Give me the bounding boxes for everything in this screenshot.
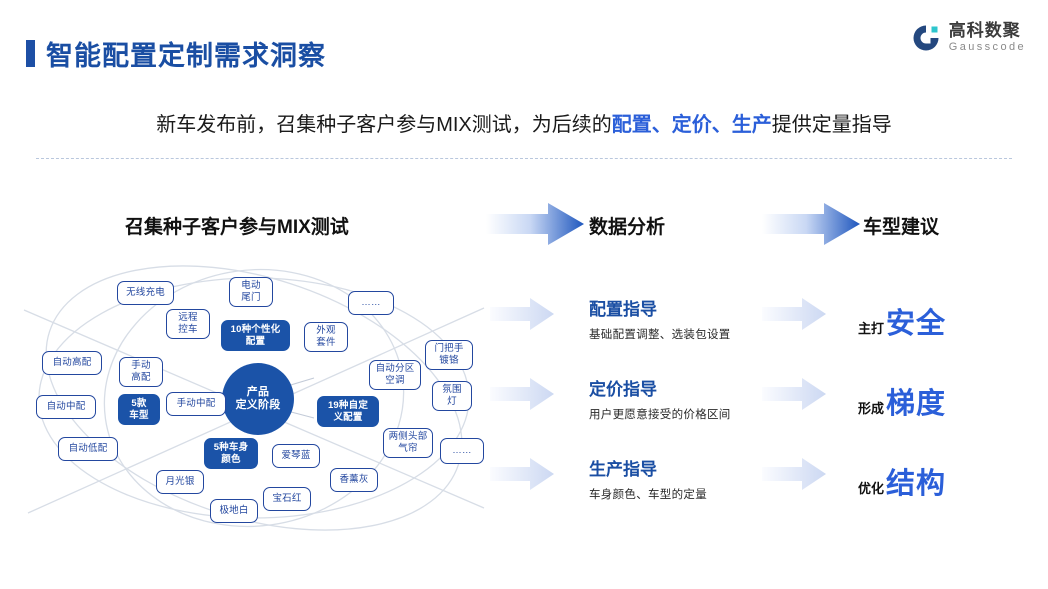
mindmap-node-n20: 爱琴蓝 bbox=[272, 444, 320, 468]
mindmap-node-n09: 门把手镀铬 bbox=[425, 340, 473, 370]
suggestion-row-2: 形成 梯度 bbox=[858, 380, 946, 422]
mindmap-node-n19: …… bbox=[440, 438, 484, 464]
analysis-row-1-subtitle: 基础配置调整、选装包设置 bbox=[589, 326, 819, 342]
mindmap-node-label: 无线充电 bbox=[126, 287, 165, 299]
mindmap-node-label: …… bbox=[361, 297, 380, 309]
page-title: 智能配置定制需求洞察 bbox=[46, 34, 326, 73]
mindmap-node-label: 两侧头部 bbox=[389, 431, 428, 443]
mindmap-node-label: 手动中配 bbox=[177, 398, 216, 410]
mindmap-node-label: 车型 bbox=[129, 410, 148, 422]
suggestion-row-1-keyword: 安全 bbox=[886, 300, 946, 342]
suggestion-row-1-prefix: 主打 bbox=[858, 318, 884, 337]
mindmap-node-label: 配置 bbox=[246, 336, 265, 348]
subtitle-part1: 新车发布前，召集种子客户参与MIX测试，为后续的 bbox=[156, 114, 612, 136]
analysis-row-3: 生产指导 车身颜色、车型的定量 bbox=[589, 460, 819, 502]
mindmap-node-n02: 电动尾门 bbox=[229, 277, 273, 307]
mindmap-node-n17: 5种车身颜色 bbox=[204, 438, 258, 469]
mindmap-center-node: 产品 定义阶段 bbox=[222, 363, 294, 435]
mindmap-node-label: 高配 bbox=[131, 372, 150, 384]
mindmap-node-n16: 自动低配 bbox=[58, 437, 118, 461]
suggestion-row-2-keyword: 梯度 bbox=[886, 380, 946, 422]
mindmap-node-label: 5种车身 bbox=[214, 442, 249, 454]
analysis-row-1: 配置指导 基础配置调整、选装包设置 bbox=[589, 300, 819, 342]
mindmap-node-label: …… bbox=[452, 445, 471, 457]
mindmap-node-n15: 19种自定义配置 bbox=[317, 396, 379, 427]
mindmap-node-label: 自动高配 bbox=[53, 357, 92, 369]
mindmap-node-label: 镀铬 bbox=[439, 355, 458, 367]
mindmap-node-n03: …… bbox=[348, 291, 394, 315]
mindmap-node-label: 外观 bbox=[316, 325, 335, 337]
mindmap-node-label: 灯 bbox=[447, 396, 457, 408]
mindmap-node-n14: 手动中配 bbox=[166, 392, 226, 416]
mindmap-node-label: 尾门 bbox=[241, 292, 260, 304]
slide-header: 智能配置定制需求洞察 bbox=[0, 18, 1048, 64]
title-accent-bar bbox=[26, 40, 35, 67]
mindmap-node-label: 远程 bbox=[178, 312, 197, 324]
row-arrow-3-icon bbox=[490, 458, 554, 490]
mindmap-node-n23: 宝石红 bbox=[263, 487, 311, 511]
mindmap-node-label: 颜色 bbox=[221, 454, 240, 466]
mindmap-node-label: 套件 bbox=[316, 337, 335, 349]
mindmap-node-label: 19种自定 bbox=[328, 400, 368, 412]
mindmap-node-label: 自动中配 bbox=[47, 401, 86, 413]
mindmap-node-n18: 两侧头部气帘 bbox=[383, 428, 433, 458]
mindmap-node-label: 电动 bbox=[241, 280, 260, 292]
gausscode-g-mark-icon bbox=[911, 23, 941, 53]
analysis-row-2-title: 定价指导 bbox=[589, 380, 819, 400]
analysis-row-3-subtitle: 车身颜色、车型的定量 bbox=[589, 486, 819, 502]
column-header-middle: 数据分析 bbox=[589, 212, 665, 239]
logo-english-name: Gausscode bbox=[949, 42, 1026, 53]
suggestion-row-3-prefix: 优化 bbox=[858, 478, 884, 497]
mindmap-node-n22: 香薰灰 bbox=[330, 468, 378, 492]
mindmap-node-label: 爱琴蓝 bbox=[281, 450, 310, 462]
logo-chinese-name: 高科数聚 bbox=[949, 22, 1026, 39]
suggestion-row-1: 主打 安全 bbox=[858, 300, 946, 342]
brand-logo: 高科数聚 Gausscode bbox=[911, 22, 1026, 53]
subtitle-line: 新车发布前，召集种子客户参与MIX测试，为后续的配置、定价、生产提供定量指导 bbox=[0, 108, 1048, 137]
mindmap-center-line2: 定义阶段 bbox=[236, 399, 281, 412]
mindmap-node-n01: 无线充电 bbox=[117, 281, 174, 305]
column-header-left: 召集种子客户参与MIX测试 bbox=[125, 212, 349, 239]
mindmap-node-n06: 外观套件 bbox=[304, 322, 348, 352]
slide-root: 智能配置定制需求洞察 高科数聚 Gausscode 新车发布前，召集种子客户参与… bbox=[0, 0, 1048, 589]
mindmap-node-label: 宝石红 bbox=[272, 493, 301, 505]
analysis-row-2: 定价指导 用户更愿意接受的价格区间 bbox=[589, 380, 819, 422]
analysis-row-2-subtitle: 用户更愿意接受的价格区间 bbox=[589, 406, 819, 422]
mindmap-node-n12: 自动中配 bbox=[36, 395, 96, 419]
mindmap-node-label: 控车 bbox=[178, 324, 197, 336]
mindmap-node-label: 自动低配 bbox=[69, 443, 108, 455]
mindmap-center-line1: 产品 bbox=[247, 386, 269, 399]
section-divider bbox=[36, 158, 1012, 159]
mindmap-node-label: 5款 bbox=[131, 398, 146, 410]
row-arrow-2-icon bbox=[490, 378, 554, 410]
flow-arrow-left-to-middle-icon bbox=[486, 203, 584, 245]
mindmap-node-n10: 自动分区空调 bbox=[369, 360, 421, 390]
mindmap-node-label: 香薰灰 bbox=[339, 474, 368, 486]
mindmap-node-n21: 月光银 bbox=[156, 470, 204, 494]
mindmap-node-label: 义配置 bbox=[333, 412, 362, 424]
mindmap-node-n04: 远程控车 bbox=[166, 309, 210, 339]
suggestion-row-3: 优化 结构 bbox=[858, 460, 946, 502]
mindmap-node-n13: 5款车型 bbox=[118, 394, 160, 425]
suggestion-row-2-prefix: 形成 bbox=[858, 398, 884, 417]
mindmap-node-label: 气帘 bbox=[398, 443, 417, 455]
mindmap-diagram: 产品 定义阶段 无线充电电动尾门……远程控车10种个性化配置外观套件自动高配手动… bbox=[14, 258, 494, 538]
analysis-row-3-title: 生产指导 bbox=[589, 460, 819, 480]
mindmap-node-label: 10种个性化 bbox=[231, 324, 281, 336]
row-arrow-1-icon bbox=[490, 298, 554, 330]
analysis-row-1-title: 配置指导 bbox=[589, 300, 819, 320]
mindmap-node-label: 氛围 bbox=[442, 384, 461, 396]
mindmap-node-label: 空调 bbox=[385, 375, 404, 387]
suggestion-row-3-keyword: 结构 bbox=[886, 460, 946, 502]
mindmap-node-n08: 手动高配 bbox=[119, 357, 163, 387]
mindmap-node-n24: 极地白 bbox=[210, 499, 258, 523]
mindmap-node-label: 手动 bbox=[131, 360, 150, 372]
mindmap-node-n07: 自动高配 bbox=[42, 351, 102, 375]
mindmap-node-label: 门把手 bbox=[434, 343, 463, 355]
mindmap-node-n05: 10种个性化配置 bbox=[221, 320, 290, 351]
mindmap-node-label: 月光银 bbox=[165, 476, 194, 488]
column-header-right: 车型建议 bbox=[863, 212, 939, 239]
mindmap-node-n11: 氛围灯 bbox=[432, 381, 472, 411]
mindmap-node-label: 极地白 bbox=[219, 505, 248, 517]
subtitle-highlight: 配置、定价、生产 bbox=[612, 114, 772, 136]
flow-arrow-middle-to-right-icon bbox=[762, 203, 860, 245]
subtitle-part2: 提供定量指导 bbox=[772, 114, 892, 136]
mindmap-node-label: 自动分区 bbox=[376, 363, 415, 375]
